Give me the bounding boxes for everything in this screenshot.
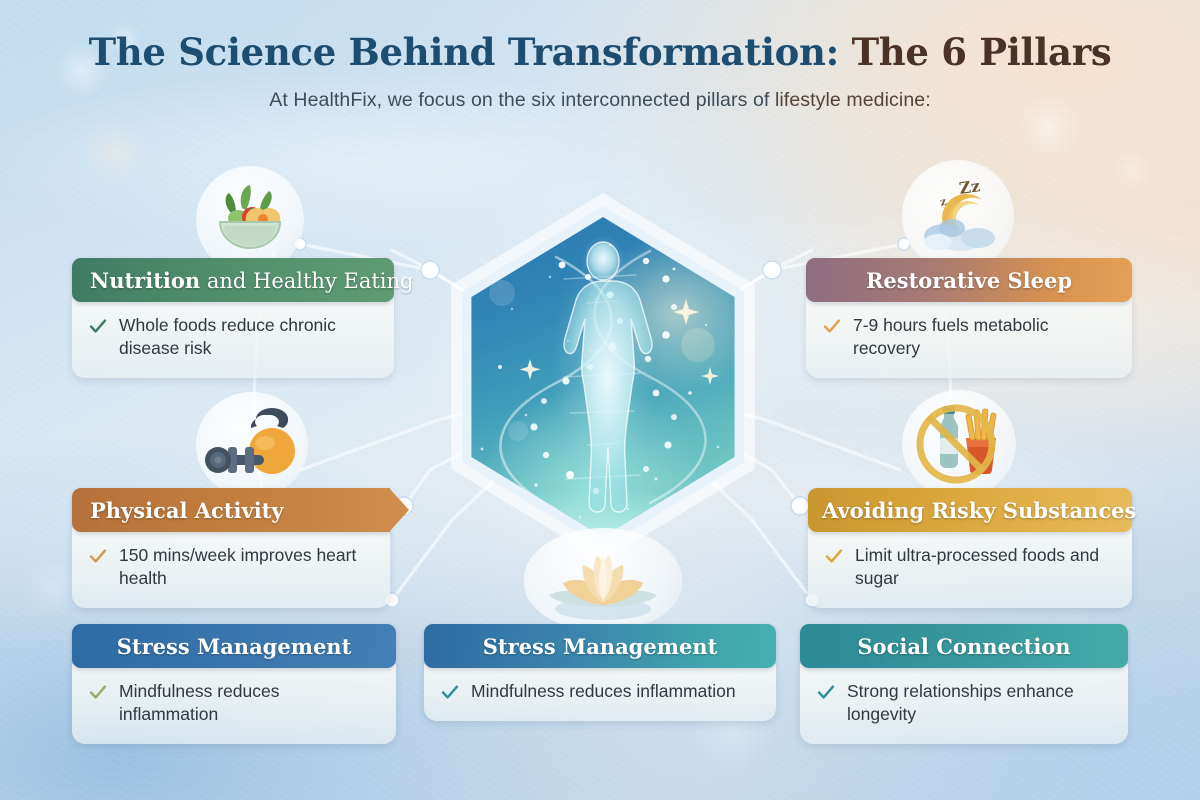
kettlebell-dumbbell-icon — [200, 397, 304, 493]
pillar-title-social: Social Connection — [857, 634, 1070, 659]
pillar-title-stress-left: Stress Management — [117, 634, 352, 659]
pillar-card-social[interactable]: Social Connection Strong relationships e… — [800, 624, 1128, 744]
pillar-detail-activity: 150 mins/week improves heart health — [119, 544, 372, 590]
medallion-activity — [196, 392, 308, 498]
pillar-card-sleep[interactable]: Restorative Sleep 7-9 hours fuels metabo… — [806, 258, 1132, 378]
pillar-detail-risky: Limit ultra-processed foods and sugar — [855, 544, 1114, 590]
pillar-card-risky[interactable]: Avoiding Risky Substances Limit ultra-pr… — [808, 488, 1132, 608]
vegetable-bowl-icon — [202, 172, 298, 268]
check-icon — [816, 682, 836, 702]
page-subtitle-primary: At HealthFix, we focus on the six interc… — [269, 89, 775, 111]
pillar-header-sleep: Restorative Sleep — [806, 258, 1132, 302]
header-block: The Science Behind Transformation: The 6… — [0, 32, 1200, 112]
pillar-body-stress-left: Mindfulness reduces inflammation — [72, 664, 396, 744]
pillar-card-nutrition[interactable]: Nutrition and Healthy Eating Whole foods… — [72, 258, 394, 378]
crescent-moon-zz-icon: Zz z — [908, 166, 1008, 266]
pillar-card-activity[interactable]: Physical Activity 150 mins/week improves… — [72, 488, 390, 608]
pillar-header-stress-center: Stress Management — [424, 624, 776, 668]
lotus-flower-icon — [535, 533, 671, 625]
pillar-body-nutrition: Whole foods reduce chronic disease risk — [72, 298, 394, 378]
pillar-header-stress-left: Stress Management — [72, 624, 396, 668]
check-icon — [440, 682, 460, 702]
pillar-detail-stress-center: Mindfulness reduces inflammation — [471, 680, 736, 703]
pillar-header-social: Social Connection — [800, 624, 1128, 668]
page-title: The Science Behind Transformation: The 6… — [0, 32, 1200, 73]
check-icon — [88, 546, 108, 566]
pillar-card-stress-center[interactable]: Stress Management Mindfulness reduces in… — [424, 624, 776, 721]
no-bottle-fries-icon — [906, 394, 1012, 494]
pillar-header-nutrition: Nutrition and Healthy Eating — [72, 258, 394, 302]
pillar-body-sleep: 7-9 hours fuels metabolic recovery — [806, 298, 1132, 378]
page-title-accent: The 6 Pillars — [839, 30, 1111, 74]
pillar-card-stress-left[interactable]: Stress Management Mindfulness reduces in… — [72, 624, 396, 744]
infographic-canvas: The Science Behind Transformation: The 6… — [0, 0, 1200, 800]
pillar-body-activity: 150 mins/week improves heart health — [72, 528, 390, 608]
page-title-primary: The Science Behind Transformation: — [89, 30, 839, 74]
check-icon — [822, 316, 842, 336]
pillar-title-activity: Physical Activity — [90, 498, 284, 523]
check-icon — [824, 546, 844, 566]
medallion-risky — [902, 390, 1016, 498]
pillar-body-social: Strong relationships enhance longevity — [800, 664, 1128, 744]
check-icon — [88, 682, 108, 702]
medallion-stress-lotus — [524, 528, 682, 630]
pillar-header-activity: Physical Activity — [72, 488, 390, 532]
pillar-body-risky: Limit ultra-processed foods and sugar — [808, 528, 1132, 608]
center-hexagon-emblem — [425, 182, 781, 572]
pillar-header-risky: Avoiding Risky Substances — [808, 488, 1132, 532]
pillar-title-sleep: Restorative Sleep — [866, 268, 1072, 293]
pillar-detail-nutrition: Whole foods reduce chronic disease risk — [119, 314, 376, 360]
pillar-detail-social: Strong relationships enhance longevity — [847, 680, 1110, 726]
check-icon — [88, 316, 108, 336]
pillar-detail-stress-left: Mindfulness reduces inflammation — [119, 680, 378, 726]
pillar-detail-sleep: 7-9 hours fuels metabolic recovery — [853, 314, 1114, 360]
pillar-title-risky: Avoiding Risky Substances — [822, 498, 1136, 523]
pillar-body-stress-center: Mindfulness reduces inflammation — [424, 664, 776, 721]
page-subtitle-accent: lifestyle medicine: — [775, 89, 931, 111]
pillar-title-stress-center: Stress Management — [483, 634, 718, 659]
medallion-sleep: Zz z — [902, 160, 1014, 272]
page-subtitle: At HealthFix, we focus on the six interc… — [0, 89, 1200, 112]
pillar-title-nutrition: Nutrition and Healthy Eating — [90, 268, 413, 293]
